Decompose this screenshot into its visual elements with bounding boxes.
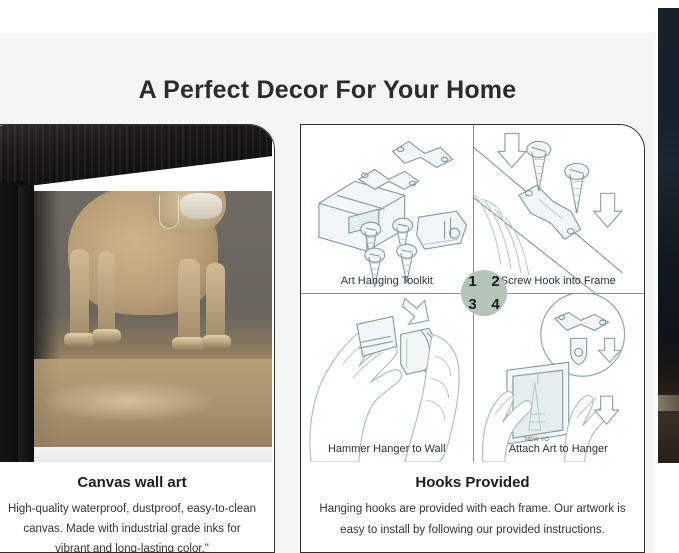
hanging-wire [159, 195, 179, 229]
screw-hook-into-frame-illustration [473, 125, 645, 294]
hanger-clip-icon [417, 211, 467, 249]
canvas-card-title: Canvas wall art [6, 474, 258, 491]
screw-icon [526, 141, 550, 191]
dog-leg [70, 249, 89, 341]
framed-art-icon: NEW YO [506, 362, 568, 444]
hooks-card-body: Hanging hooks are provided with each fra… [319, 499, 626, 540]
step-1-label: Art Hanging Toolkit [301, 275, 473, 287]
canvas-card-body: High-quality waterproof, dustproof, easy… [6, 499, 258, 553]
badge-number-2: 2 [491, 274, 499, 289]
down-arrow-icon [497, 133, 525, 167]
frame-top-bar [0, 125, 272, 193]
step-1-panel: Art Hanging Toolkit [301, 125, 473, 294]
artwork-sand-patch [44, 381, 214, 421]
frame-inner-edge [18, 185, 34, 462]
dog-artwork-image [34, 191, 272, 447]
dog-leg [98, 251, 115, 337]
page-title: A Perfect Decor For Your Home [0, 76, 655, 105]
art-hanging-toolkit-illustration [301, 125, 473, 294]
dog-paw [92, 329, 121, 343]
framed-artwork [0, 125, 274, 462]
badge-number-1: 1 [468, 274, 476, 289]
hooks-card-title: Hooks Provided [319, 474, 626, 491]
step-3-panel: Hammer Hanger to Wall [301, 294, 473, 463]
hooks-provided-card: Art Hanging Toolkit [300, 124, 645, 553]
hooks-card-text: Hooks Provided Hanging hooks are provide… [301, 462, 644, 540]
dog-leg [178, 259, 200, 343]
hanger-strip-icon [393, 141, 453, 167]
screw-icon [564, 163, 588, 213]
artwork-caption: NEW YO [524, 437, 548, 443]
dog-muzzle [180, 193, 222, 219]
dog-paw [64, 333, 95, 347]
down-left-arrow-icon [403, 298, 429, 324]
dog-leg [206, 263, 225, 341]
canvas-card-text: Canvas wall art High-quality waterproof,… [0, 462, 274, 553]
canvas-art-photo [0, 125, 274, 462]
canvas-wall-art-card: Canvas wall art High-quality waterproof,… [0, 124, 275, 553]
product-detail-image: A Perfect Decor For Your Home [0, 0, 679, 553]
installation-steps-grid: Art Hanging Toolkit [301, 125, 644, 462]
adjacent-product-photo-strip [655, 0, 679, 553]
dog-paw [172, 337, 205, 351]
badge-number-3: 3 [468, 297, 476, 312]
down-arrow-icon [593, 193, 621, 227]
attach-art-to-hanger-illustration: NEW YO [473, 294, 645, 463]
step-2-panel: Screw Hook into Frame [473, 125, 645, 294]
adjacent-product-photo [658, 8, 679, 463]
toolkit-box-icon [319, 181, 405, 251]
dog-paw [202, 335, 231, 349]
step-4-panel: NEW YO Attach Art to Hanger [473, 294, 645, 463]
step-number-badge: 1 2 3 4 [461, 270, 507, 316]
hanger-bracket-icon [518, 185, 580, 239]
badge-number-4: 4 [491, 297, 499, 312]
step-3-label: Hammer Hanger to Wall [301, 443, 473, 455]
frame-bottom-mat [34, 447, 272, 462]
hammer-hanger-to-wall-illustration [301, 294, 473, 463]
step-4-label: Attach Art to Hanger [473, 443, 645, 455]
